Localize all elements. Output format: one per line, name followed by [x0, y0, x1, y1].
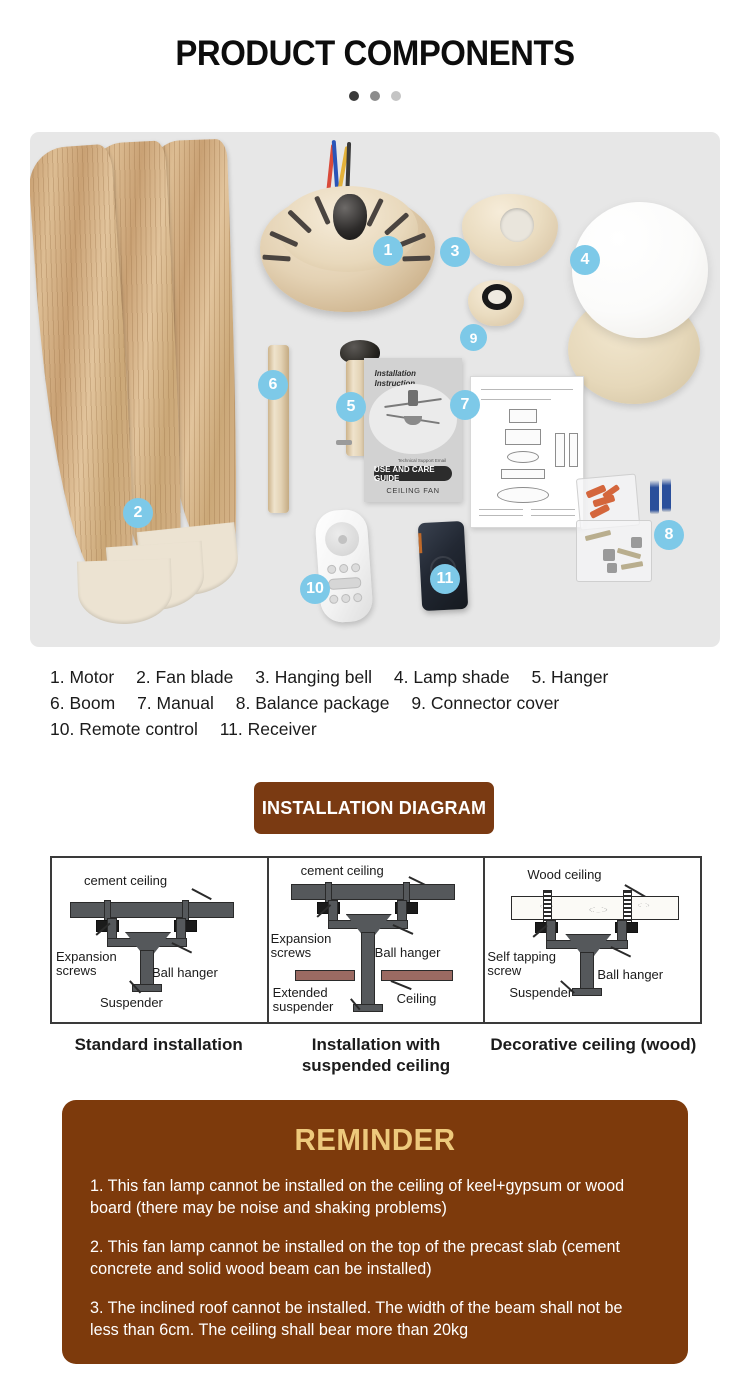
reminder-title: REMINDER	[104, 1122, 646, 1158]
part-badge-8: 8	[654, 520, 684, 550]
component-item: 3. Hanging bell	[255, 664, 372, 690]
diagram-panel-standard: cement ceiling Expansionscrews Ball hang…	[52, 858, 267, 1022]
manual-booklet: Installation Instruction Technical Suppo…	[364, 358, 462, 502]
diagram-label-hanger: Ball hanger	[375, 946, 441, 960]
diagram-label-slab: Ceiling	[397, 992, 437, 1006]
reminder-item: 2. This fan lamp cannot be installed on …	[90, 1236, 649, 1280]
component-item: 8. Balance package	[236, 690, 390, 716]
diagram-label-screws: Self tappingscrew	[487, 950, 556, 978]
page-title: PRODUCT COMPONENTS	[23, 0, 728, 74]
part-badge-5: 5	[336, 392, 366, 422]
manual-subtitle: CEILING FAN	[374, 486, 452, 495]
installation-diagram-box: cement ceiling Expansionscrews Ball hang…	[50, 856, 702, 1024]
part-badge-6: 6	[258, 370, 288, 400]
carousel-dot-1[interactable]	[349, 91, 359, 101]
component-list-row-2: 6. Boom 7. Manual 8. Balance package 9. …	[50, 690, 710, 716]
component-item: 5. Hanger	[532, 664, 609, 690]
diagram-label-screws: Expansionscrews	[56, 950, 117, 978]
diagram-label-ceiling: Wood ceiling	[527, 868, 601, 882]
diagram-label-suspender: Suspender	[509, 986, 572, 1000]
diagram-label-hanger: Ball hanger	[152, 966, 218, 980]
diagram-panel-suspended: cement ceiling Expansionscrews Ball hang…	[267, 858, 484, 1022]
component-item: 6. Boom	[50, 690, 115, 716]
instruction-sheet	[470, 376, 584, 528]
reminder-box: REMINDER 1. This fan lamp cannot be inst…	[62, 1100, 688, 1364]
part-badge-3: 3	[440, 237, 470, 267]
part-badge-7: 7	[450, 390, 480, 420]
part-badge-9: 9	[460, 324, 487, 351]
part-badge-1: 1	[373, 236, 403, 266]
manual-guide-label: USE AND CARE GUIDE	[374, 466, 452, 481]
diagram-label-screws: Expansionscrews	[271, 932, 332, 960]
component-item: 2. Fan blade	[136, 664, 233, 690]
diagram-captions: Standard installation Installation withs…	[50, 1034, 702, 1076]
carousel-dots[interactable]	[0, 91, 750, 101]
part-badge-2: 2	[123, 498, 153, 528]
component-item: 11. Receiver	[220, 716, 317, 742]
carousel-dot-2[interactable]	[370, 91, 380, 101]
part-badge-10: 10	[300, 574, 330, 604]
component-list-row-1: 1. Motor 2. Fan blade 3. Hanging bell 4.…	[50, 664, 710, 690]
diagram-label-ceiling: cement ceiling	[301, 864, 384, 878]
carousel-dot-3[interactable]	[391, 91, 401, 101]
installation-diagram-button[interactable]: INSTALLATION DIAGRAM	[254, 782, 494, 834]
component-list: 1. Motor 2. Fan blade 3. Hanging bell 4.…	[50, 664, 710, 742]
diagram-label-suspender: Suspender	[100, 996, 163, 1010]
part-badge-11: 11	[430, 564, 460, 594]
component-list-row-3: 10. Remote control 11. Receiver	[50, 716, 710, 742]
remote-control-part	[314, 508, 374, 623]
component-item: 10. Remote control	[50, 716, 198, 742]
component-item: 1. Motor	[50, 664, 114, 690]
manual-support-note: Technical Support Email	[390, 458, 454, 463]
component-item: 4. Lamp shade	[394, 664, 510, 690]
component-item: 9. Connector cover	[411, 690, 559, 716]
diagram-panel-wood: Wood ceiling Self tappingscrew Ball hang…	[483, 858, 700, 1022]
diagram-caption-3: Decorative ceiling (wood)	[485, 1034, 702, 1076]
diagram-label-hanger: Ball hanger	[597, 968, 663, 982]
diagram-label-suspender: Extendedsuspender	[273, 986, 334, 1014]
component-item: 7. Manual	[137, 690, 214, 716]
diagram-label-ceiling: cement ceiling	[84, 874, 167, 888]
diagram-caption-1: Standard installation	[50, 1034, 267, 1076]
reminder-item: 1. This fan lamp cannot be installed on …	[90, 1175, 649, 1219]
product-photo-panel: 2 1 3 9 4 6	[30, 132, 720, 647]
part-badge-4: 4	[570, 245, 600, 275]
diagram-caption-2: Installation withsuspended ceiling	[267, 1034, 484, 1076]
reminder-item: 3. The inclined roof cannot be installed…	[90, 1297, 649, 1341]
